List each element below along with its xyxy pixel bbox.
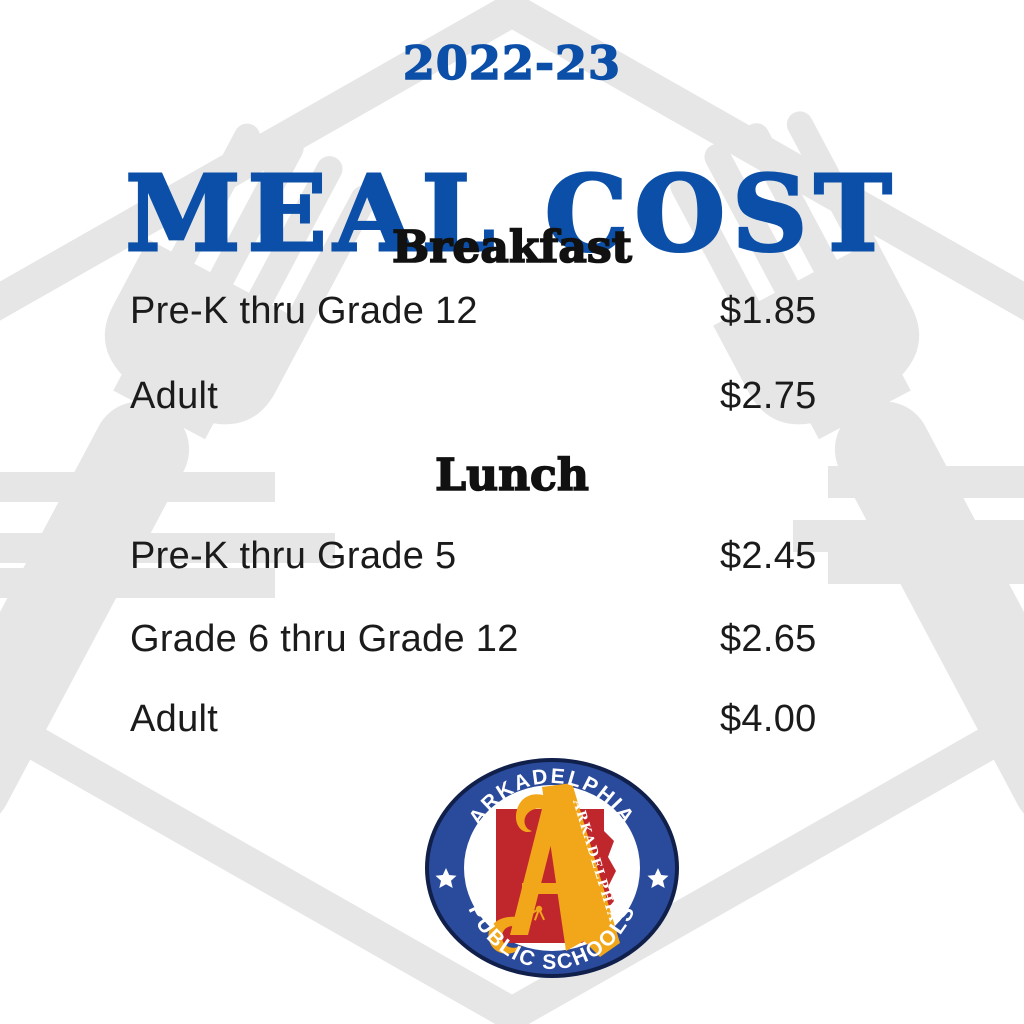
price-row-value: $2.75 [720,375,870,418]
price-row-value: $2.45 [720,535,870,578]
section-heading-breakfast: Breakfast [0,222,1024,273]
price-row: Grade 6 thru Grade 12 $2.65 [130,618,870,661]
meal-cost-poster: 2022-23 MEAL COST Breakfast Pre-K thru G… [0,0,1024,1024]
section-heading-lunch: Lunch [0,450,1024,501]
school-year-label: 2022-23 [0,36,1024,90]
price-row-label: Adult [130,698,218,741]
price-row-label: Adult [130,375,218,418]
price-row-value: $1.85 [720,290,870,333]
price-row-label: Pre-K thru Grade 5 [130,535,456,578]
price-row: Pre-K thru Grade 12 $1.85 [130,290,870,333]
price-row-value: $2.65 [720,618,870,661]
price-row: Adult $4.00 [130,698,870,741]
school-logo: ARKADELPHIA ARKADELPHIA PUBLIC SCHOOLS [424,757,680,979]
price-row: Adult $2.75 [130,375,870,418]
price-row-label: Grade 6 thru Grade 12 [130,618,519,661]
price-row-label: Pre-K thru Grade 12 [130,290,478,333]
price-row-value: $4.00 [720,698,870,741]
price-row: Pre-K thru Grade 5 $2.45 [130,535,870,578]
